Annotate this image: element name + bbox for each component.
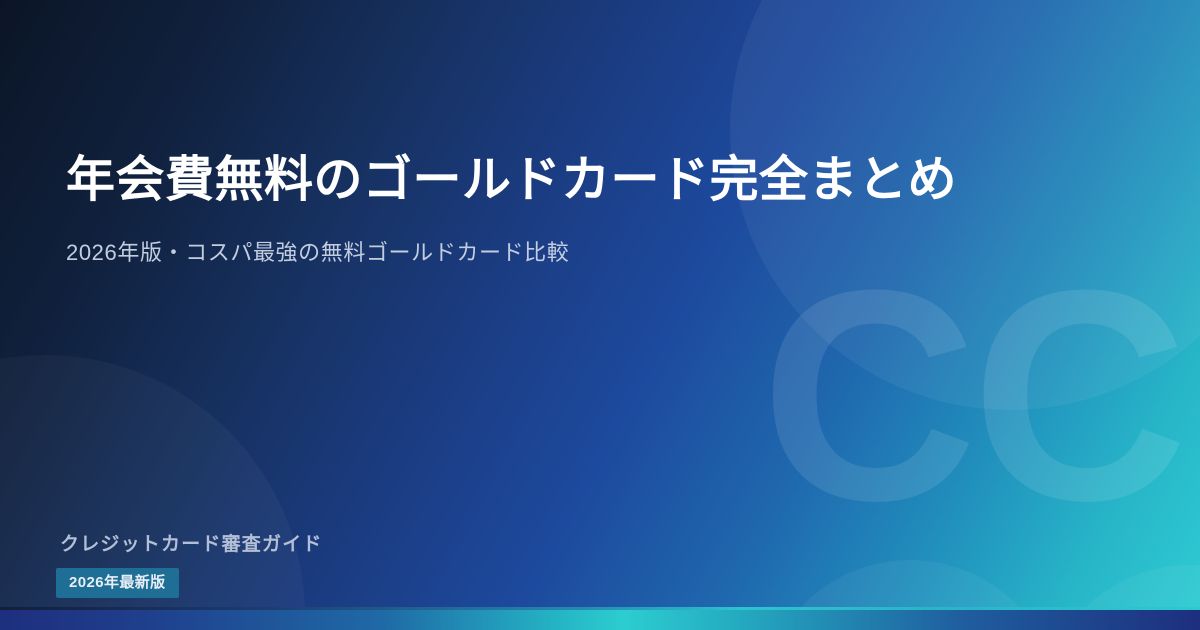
brand-name: クレジットカード審査ガイド	[60, 534, 323, 557]
cc-watermark: CC	[761, 245, 1182, 545]
page-subtitle: 2026年版・コスパ最強の無料ゴールドカード比較	[66, 238, 1046, 269]
og-image-card: CC 年会費無料のゴールドカード完全まとめ 2026年版・コスパ最強の無料ゴール…	[0, 0, 1200, 630]
status-badge: 2026年最新版	[56, 568, 179, 598]
footer-block: クレジットカード審査ガイド 2026年最新版	[56, 534, 323, 598]
headline-block: 年会費無料のゴールドカード完全まとめ 2026年版・コスパ最強の無料ゴールドカー…	[66, 150, 1046, 269]
page-title: 年会費無料のゴールドカード完全まとめ	[66, 150, 1046, 211]
bottom-accent-bar	[0, 610, 1200, 630]
